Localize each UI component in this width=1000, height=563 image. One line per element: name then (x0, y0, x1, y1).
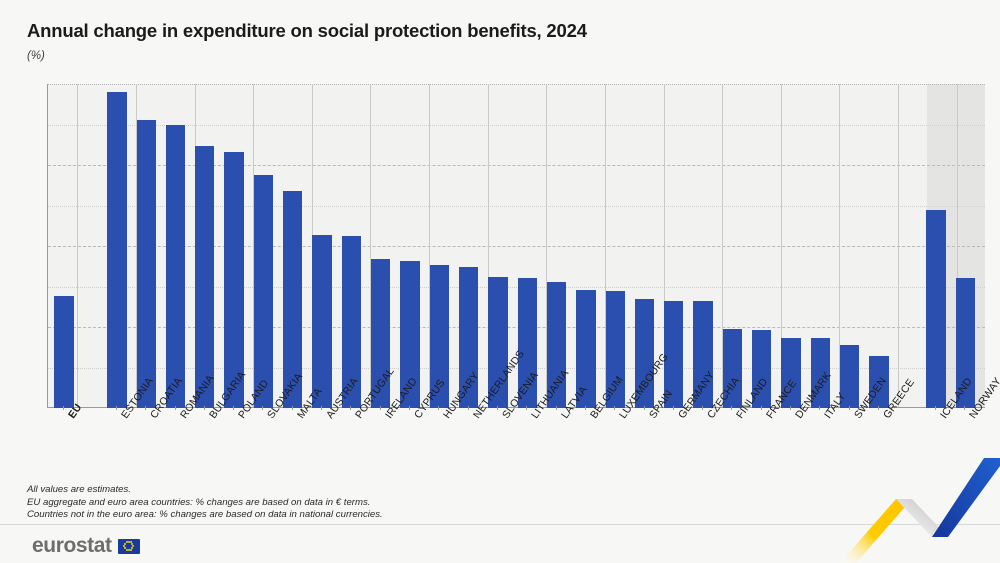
chart-unit-label: (%) (27, 50, 45, 62)
page-title: Annual change in expenditure on social p… (27, 20, 587, 42)
x-axis-tick-mark (380, 406, 381, 410)
x-axis-tick-mark (175, 406, 176, 410)
bar[interactable] (224, 152, 243, 408)
vertical-separator (898, 84, 899, 408)
gridline (48, 327, 985, 328)
eurostat-logo: eurostat (32, 534, 140, 558)
x-axis-tick-mark (63, 406, 64, 410)
vertical-separator (77, 84, 78, 408)
x-axis-tick-mark (585, 406, 586, 410)
x-axis-tick-mark (204, 406, 205, 410)
footnote: All values are estimates. EU aggregate a… (27, 484, 383, 522)
chart-root: Annual change in expenditure on social p… (0, 0, 1000, 563)
bar[interactable] (107, 92, 126, 408)
footnote-line-3: Countries not in the euro area: % change… (27, 509, 383, 522)
x-axis-tick-mark (321, 406, 322, 410)
x-axis-tick-mark (673, 406, 674, 410)
minor-gridline (48, 206, 985, 207)
x-axis-tick-mark (438, 406, 439, 410)
x-axis-tick-mark (702, 406, 703, 410)
x-axis-tick-mark (116, 406, 117, 410)
x-axis-tick-mark (731, 406, 732, 410)
x-axis-tick-mark (497, 406, 498, 410)
bar[interactable] (254, 175, 273, 408)
x-axis-tick-mark (761, 406, 762, 410)
minor-gridline (48, 287, 985, 288)
x-axis-tick-mark (468, 406, 469, 410)
x-axis-tick-mark (556, 406, 557, 410)
x-axis-tick-mark (350, 406, 351, 410)
brand-zigzag-graphic (840, 458, 1000, 563)
x-axis-tick-mark (409, 406, 410, 410)
x-axis-tick-mark (292, 406, 293, 410)
x-axis-tick-mark (145, 406, 146, 410)
x-axis-tick-mark (849, 406, 850, 410)
footnote-line-1: All values are estimates. (27, 484, 383, 497)
eu-flag-icon (118, 539, 140, 554)
x-axis-tick-mark (878, 406, 879, 410)
x-axis-tick-mark (790, 406, 791, 410)
x-axis-tick-mark (526, 406, 527, 410)
bar[interactable] (195, 146, 214, 408)
footnote-line-2: EU aggregate and euro area countries: % … (27, 497, 383, 510)
eurostat-logo-text: eurostat (32, 534, 112, 558)
bar[interactable] (54, 296, 73, 408)
minor-gridline (48, 125, 985, 126)
x-axis-tick-mark (614, 406, 615, 410)
bar[interactable] (926, 210, 945, 408)
bar[interactable] (137, 120, 156, 408)
gridline (48, 84, 985, 85)
x-axis-tick-mark (819, 406, 820, 410)
bar[interactable] (312, 235, 331, 408)
x-axis-tick-mark (964, 406, 965, 410)
x-axis-tick-mark (262, 406, 263, 410)
bar[interactable] (166, 125, 185, 409)
x-axis-tick-mark (233, 406, 234, 410)
gridline (48, 165, 985, 166)
gridline (48, 246, 985, 247)
x-axis-tick-mark (644, 406, 645, 410)
x-axis-tick-mark (935, 406, 936, 410)
